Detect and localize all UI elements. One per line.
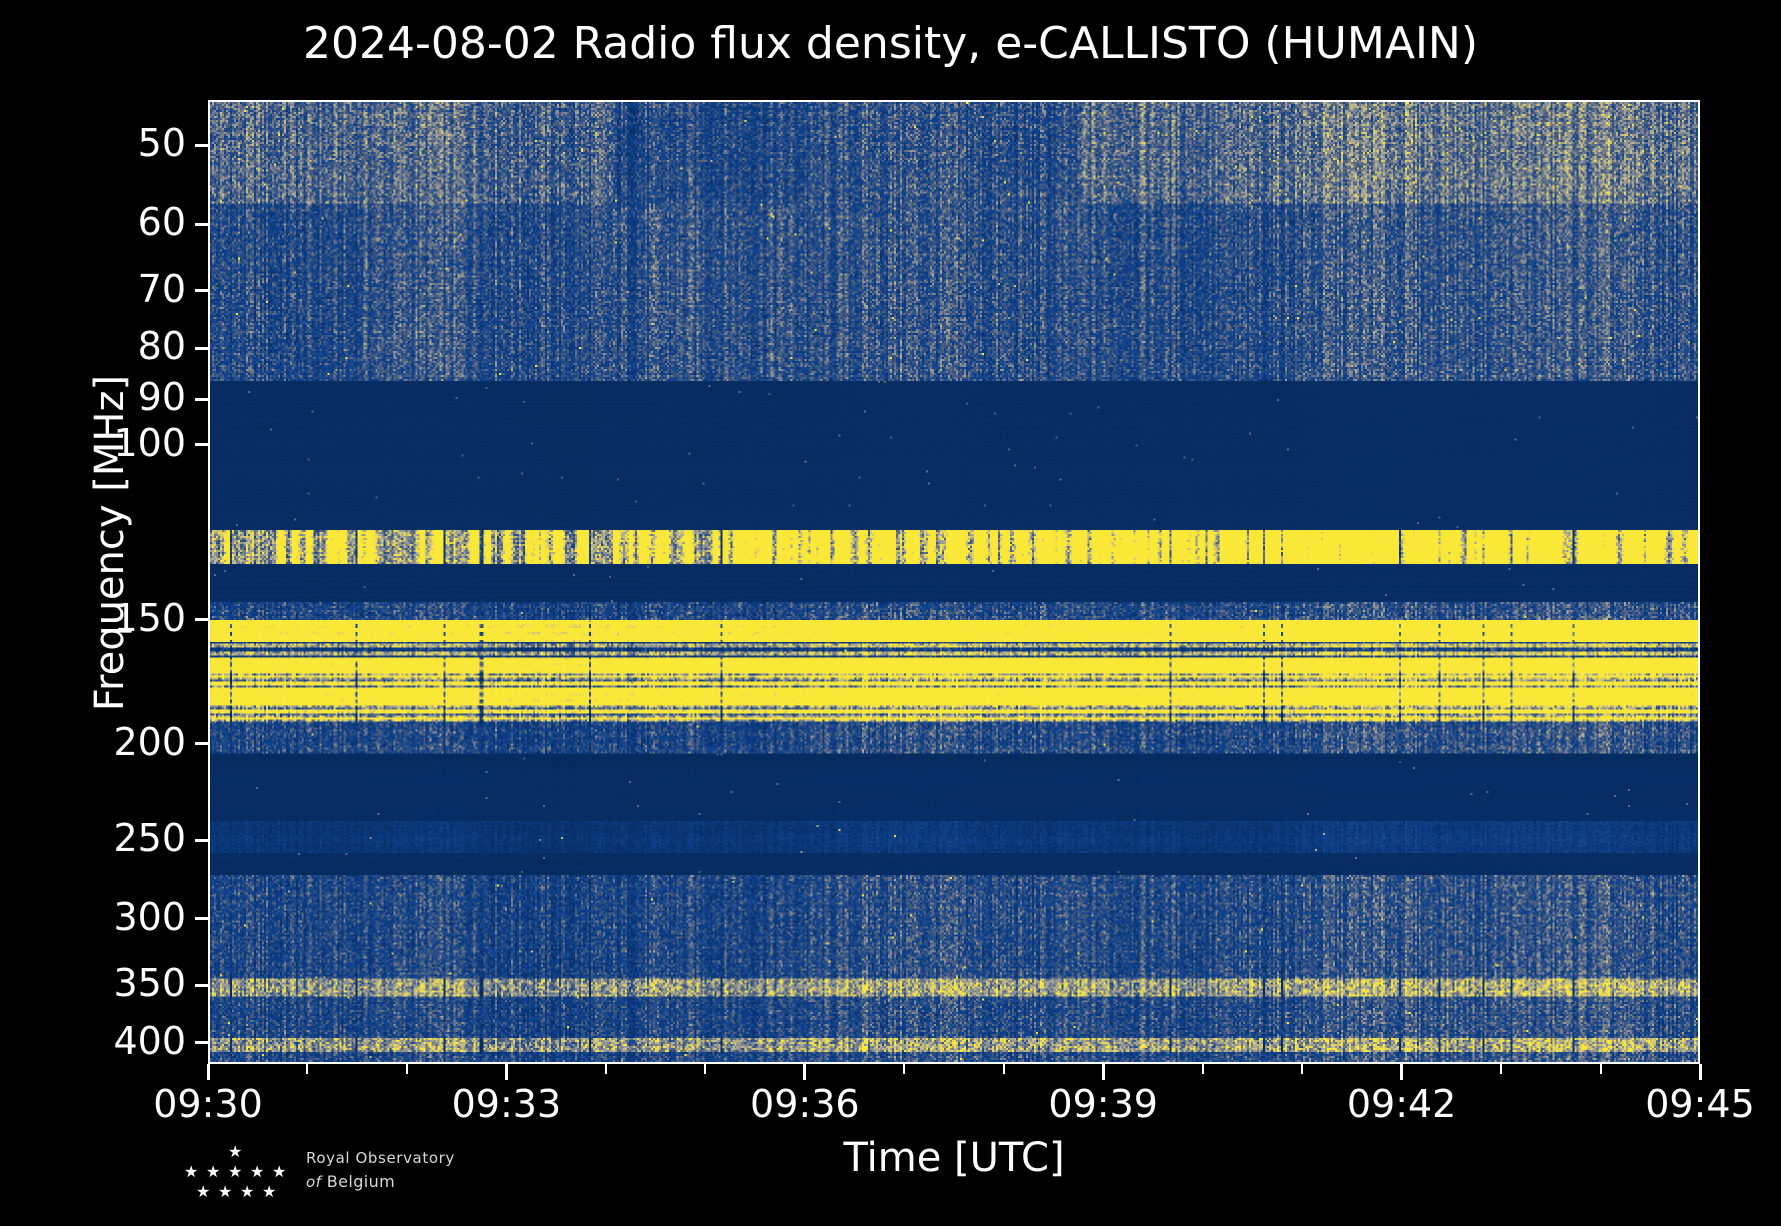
star-icon: ★ [240,1184,254,1200]
x-tick-mark-minor [306,1064,308,1074]
y-tick-mark [195,398,209,401]
x-tick-mark-minor [903,1064,905,1074]
x-tick-mark-minor [605,1064,607,1074]
x-tick-label: 09:42 [1347,1082,1457,1126]
x-tick-label: 09:39 [1048,1082,1158,1126]
figure-canvas: 2024-08-02 Radio flux density, e-CALLIST… [0,0,1781,1226]
logo-of-word: of [306,1173,321,1191]
star-icon: ★ [218,1184,232,1200]
y-tick-label: 90 [138,375,186,419]
star-icon: ★ [228,1144,242,1160]
y-tick-label: 400 [113,1019,186,1063]
x-tick-mark-minor [1301,1064,1303,1074]
x-tick-mark [207,1064,210,1080]
y-tick-mark [195,839,209,842]
star-icon: ★ [196,1184,210,1200]
x-tick-mark-minor [1500,1064,1502,1074]
y-tick-mark [195,618,209,621]
star-icon: ★ [184,1164,198,1180]
y-tick-mark [195,917,209,920]
y-tick-mark [195,223,209,226]
star-icon: ★ [262,1184,276,1200]
y-tick-mark [195,443,209,446]
y-tick-label: 50 [138,121,186,165]
x-tick-label: 09:45 [1645,1082,1755,1126]
x-tick-label: 09:33 [452,1082,562,1126]
x-tick-mark [803,1064,806,1080]
x-tick-mark [505,1064,508,1080]
logo-text: Royal Observatory of Belgium [306,1148,456,1194]
star-icon: ★ [272,1164,286,1180]
logo-line-1: Royal Observatory [306,1148,456,1170]
y-tick-mark [195,347,209,350]
royal-observatory-logo: ★★★★★★★★★★ Royal Observatory of Belgium [176,1144,426,1208]
star-icon: ★ [228,1164,242,1180]
spectrogram-image [210,102,1698,1062]
x-tick-mark [1699,1064,1702,1080]
star-icon: ★ [250,1164,264,1180]
y-tick-label: 70 [138,267,186,311]
y-tick-mark [195,144,209,147]
logo-line-2: of Belgium [306,1170,456,1194]
y-axis-label: Frequency [MHz] [87,61,133,1025]
x-tick-mark-minor [1600,1064,1602,1074]
x-tick-mark-minor [1003,1064,1005,1074]
y-tick-label: 80 [138,324,186,368]
y-tick-label: 60 [138,200,186,244]
y-tick-mark [195,289,209,292]
x-tick-mark-minor [1202,1064,1204,1074]
x-tick-label: 09:30 [153,1082,263,1126]
x-tick-label: 09:36 [750,1082,860,1126]
star-icon: ★ [206,1164,220,1180]
page-title: 2024-08-02 Radio flux density, e-CALLIST… [0,18,1781,69]
stars-emblem: ★★★★★★★★★★ [176,1144,296,1206]
x-tick-mark-minor [704,1064,706,1074]
x-tick-mark [1102,1064,1105,1080]
y-tick-mark [195,1041,209,1044]
y-tick-mark [195,984,209,987]
spectrogram-plot-area [208,100,1700,1064]
y-tick-mark [195,742,209,745]
x-tick-mark-minor [406,1064,408,1074]
x-tick-mark [1400,1064,1403,1080]
logo-belgium-word: Belgium [321,1172,395,1191]
